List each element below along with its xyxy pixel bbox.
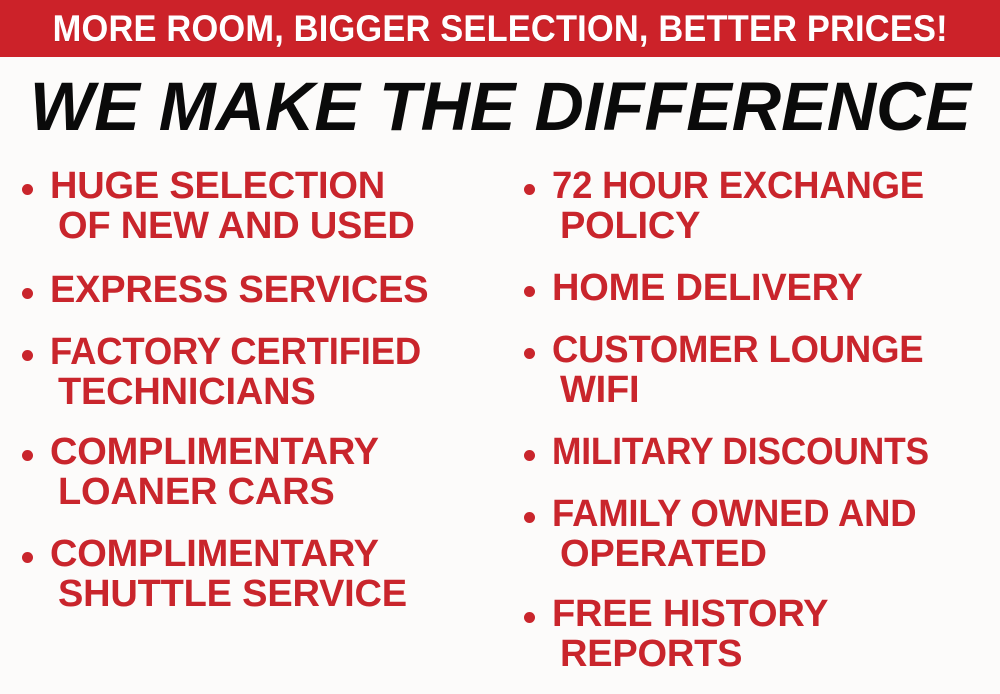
list-item-line2: LOANER CARS xyxy=(50,472,379,512)
benefits-column-right: 72 HOUR EXCHANGE POLICY HOME DELIVERY CU… xyxy=(510,160,1000,694)
list-item: CUSTOMER LOUNGE WIFI xyxy=(510,330,939,410)
benefits-column-left: HUGE SELECTION OF NEW AND USED EXPRESS S… xyxy=(8,160,506,694)
bullet-dot-icon xyxy=(524,612,535,623)
bullet-dot-icon xyxy=(22,184,33,195)
list-item-line1: FAMILY OWNED AND xyxy=(552,494,916,534)
list-item-line1: 72 HOUR EXCHANGE xyxy=(552,166,924,206)
main-headline-container: WE MAKE THE DIFFERENCE xyxy=(0,62,1000,150)
bullet-dot-icon xyxy=(22,288,33,299)
list-item: MILITARY DISCOUNTS xyxy=(510,432,957,472)
list-item: COMPLIMENTARY SHUTTLE SERVICE xyxy=(8,534,407,614)
list-item-line1: COMPLIMENTARY xyxy=(50,534,407,574)
list-item-line2: REPORTS xyxy=(552,634,828,674)
list-item-line2: TECHNICIANS xyxy=(50,372,437,412)
top-banner: MORE ROOM, BIGGER SELECTION, BETTER PRIC… xyxy=(0,0,1000,57)
bullet-dot-icon xyxy=(22,450,33,461)
list-item-line2: WIFI xyxy=(552,370,939,410)
list-item-line1: MILITARY DISCOUNTS xyxy=(552,432,929,472)
promo-poster: MORE ROOM, BIGGER SELECTION, BETTER PRIC… xyxy=(0,0,1000,694)
benefits-columns: HUGE SELECTION OF NEW AND USED EXPRESS S… xyxy=(0,160,1000,694)
list-item-line2: POLICY xyxy=(552,206,939,246)
bullet-dot-icon xyxy=(524,286,535,297)
bullet-dot-icon xyxy=(22,552,33,563)
bullet-dot-icon xyxy=(22,350,33,361)
list-item: 72 HOUR EXCHANGE POLICY xyxy=(510,166,939,246)
bullet-dot-icon xyxy=(524,512,535,523)
list-item: HOME DELIVERY xyxy=(510,268,863,308)
list-item-line1: CUSTOMER LOUNGE xyxy=(552,330,923,370)
list-item-line1: HOME DELIVERY xyxy=(552,268,863,308)
list-item: EXPRESS SERVICES xyxy=(8,270,428,310)
banner-headline-text: MORE ROOM, BIGGER SELECTION, BETTER PRIC… xyxy=(52,10,947,47)
bullet-dot-icon xyxy=(524,348,535,359)
main-headline-text: WE MAKE THE DIFFERENCE xyxy=(29,72,970,141)
list-item: FACTORY CERTIFIED TECHNICIANS xyxy=(8,332,437,412)
list-item-line2: OPERATED xyxy=(552,534,932,574)
bullet-dot-icon xyxy=(524,450,535,461)
list-item-line1: HUGE SELECTION xyxy=(50,166,415,206)
list-item: HUGE SELECTION OF NEW AND USED xyxy=(8,166,415,246)
list-item-line1: EXPRESS SERVICES xyxy=(50,270,428,310)
bullet-dot-icon xyxy=(524,184,535,195)
list-item-line2: OF NEW AND USED xyxy=(50,206,415,246)
list-item-line1: COMPLIMENTARY xyxy=(50,432,379,472)
list-item-line1: FACTORY CERTIFIED xyxy=(50,332,421,372)
list-item: FAMILY OWNED AND OPERATED xyxy=(510,494,932,574)
list-item-line2: SHUTTLE SERVICE xyxy=(50,574,407,614)
list-item: COMPLIMENTARY LOANER CARS xyxy=(8,432,379,512)
list-item: FREE HISTORY REPORTS xyxy=(510,594,828,674)
list-item-line1: FREE HISTORY xyxy=(552,594,828,634)
